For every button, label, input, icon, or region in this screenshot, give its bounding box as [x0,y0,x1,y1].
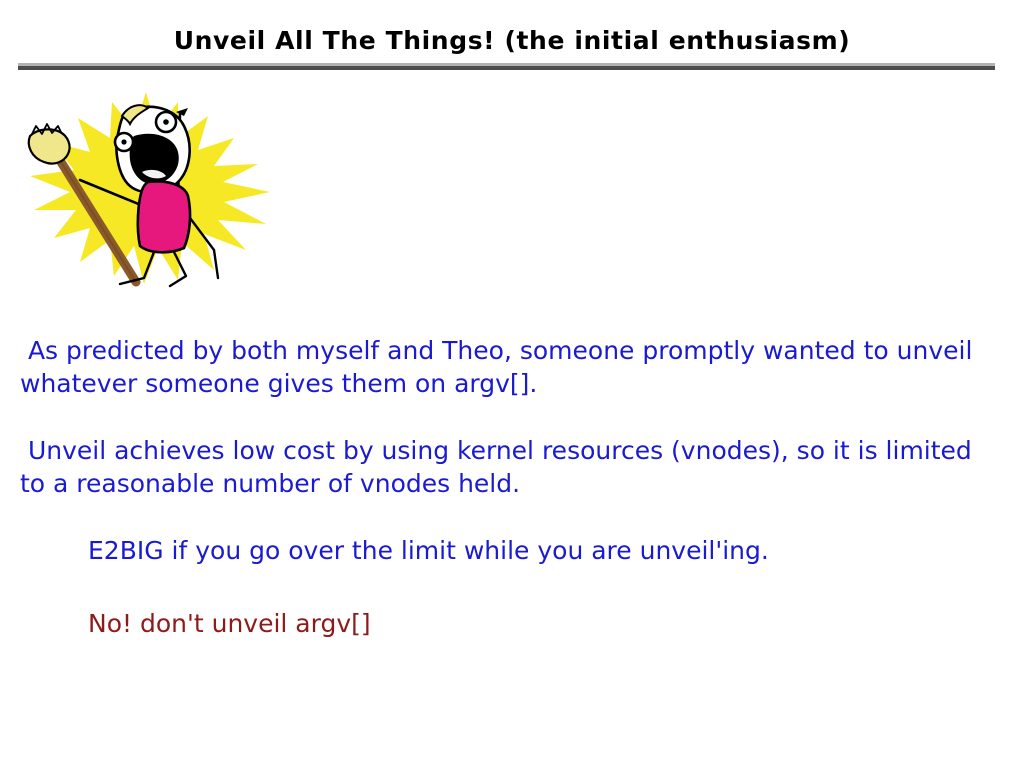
paragraph-warning: No! don't unveil argv[] [88,607,980,640]
page-title: Unveil All The Things! (the initial enth… [0,26,1024,55]
x-all-the-things-meme-image [18,84,274,290]
title-divider [18,63,995,70]
paragraph-intro: As predicted by both myself and Theo, so… [20,334,980,400]
slide-body: As predicted by both myself and Theo, so… [20,334,980,640]
head-shape [115,105,190,192]
paragraph-e2big: E2BIG if you go over the limit while you… [88,534,980,567]
paragraph-cost: Unveil achieves low cost by using kernel… [20,434,980,500]
divider-dark-band [18,66,995,70]
dress-shape [138,182,190,253]
